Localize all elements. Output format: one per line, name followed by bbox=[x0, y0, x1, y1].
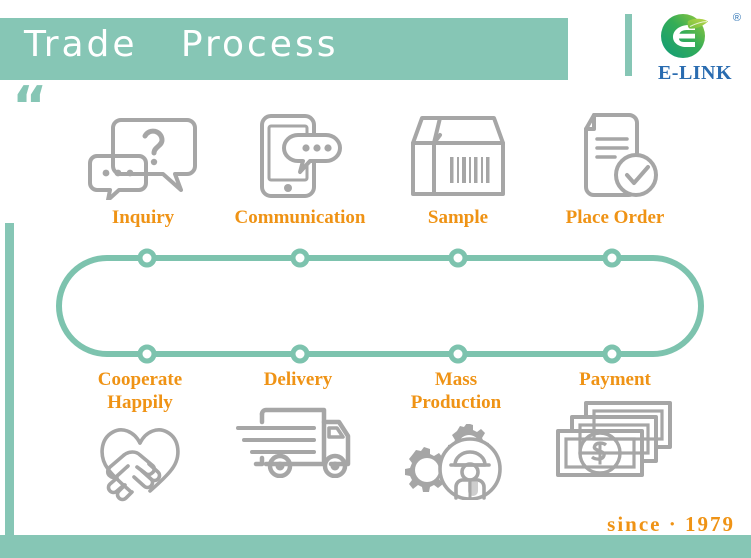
document-check-icon bbox=[535, 110, 695, 202]
bottom-frame-bar bbox=[0, 535, 751, 558]
step-label: Place Order bbox=[535, 206, 695, 229]
step-label: Payment bbox=[535, 368, 695, 391]
brand-logo: ® E-LINK bbox=[625, 6, 743, 92]
logo-wordmark: E-LINK bbox=[647, 62, 743, 85]
open-box-barcode-icon bbox=[378, 110, 538, 202]
step-label: Sample bbox=[378, 206, 538, 229]
leaf-e-emblem-icon bbox=[655, 8, 715, 67]
step-label: Cooperate Happily bbox=[60, 368, 220, 414]
gears-worker-icon bbox=[376, 418, 536, 506]
delivery-truck-icon bbox=[218, 395, 378, 483]
registered-trademark-icon: ® bbox=[733, 12, 741, 24]
step-communication[interactable]: Communication bbox=[220, 110, 380, 229]
page-title: Trade Process bbox=[24, 24, 338, 65]
step-label: Communication bbox=[220, 206, 380, 229]
heart-handshake-icon bbox=[60, 418, 220, 506]
step-mass-production[interactable]: Mass Production bbox=[376, 368, 536, 506]
since-footer-text: since · 1979 bbox=[607, 512, 735, 537]
logo-divider bbox=[625, 14, 632, 76]
step-label: Delivery bbox=[218, 368, 378, 391]
left-frame-bar bbox=[5, 223, 14, 535]
step-label: Mass Production bbox=[376, 368, 536, 414]
flow-nodes bbox=[140, 251, 619, 361]
speech-bubbles-question-icon bbox=[63, 110, 223, 202]
step-sample[interactable]: Sample bbox=[378, 110, 538, 229]
step-payment[interactable]: Payment bbox=[535, 368, 695, 483]
step-delivery[interactable]: Delivery bbox=[218, 368, 378, 483]
process-flow-path bbox=[55, 244, 705, 368]
banknotes-dollar-icon bbox=[535, 395, 695, 483]
step-label: Inquiry bbox=[63, 206, 223, 229]
step-cooperate-happily[interactable]: Cooperate Happily bbox=[60, 368, 220, 506]
step-place-order[interactable]: Place Order bbox=[535, 110, 695, 229]
step-inquiry[interactable]: Inquiry bbox=[63, 110, 223, 229]
smartphone-chat-icon bbox=[220, 110, 380, 202]
quote-mark-decoration: “ bbox=[12, 80, 49, 134]
